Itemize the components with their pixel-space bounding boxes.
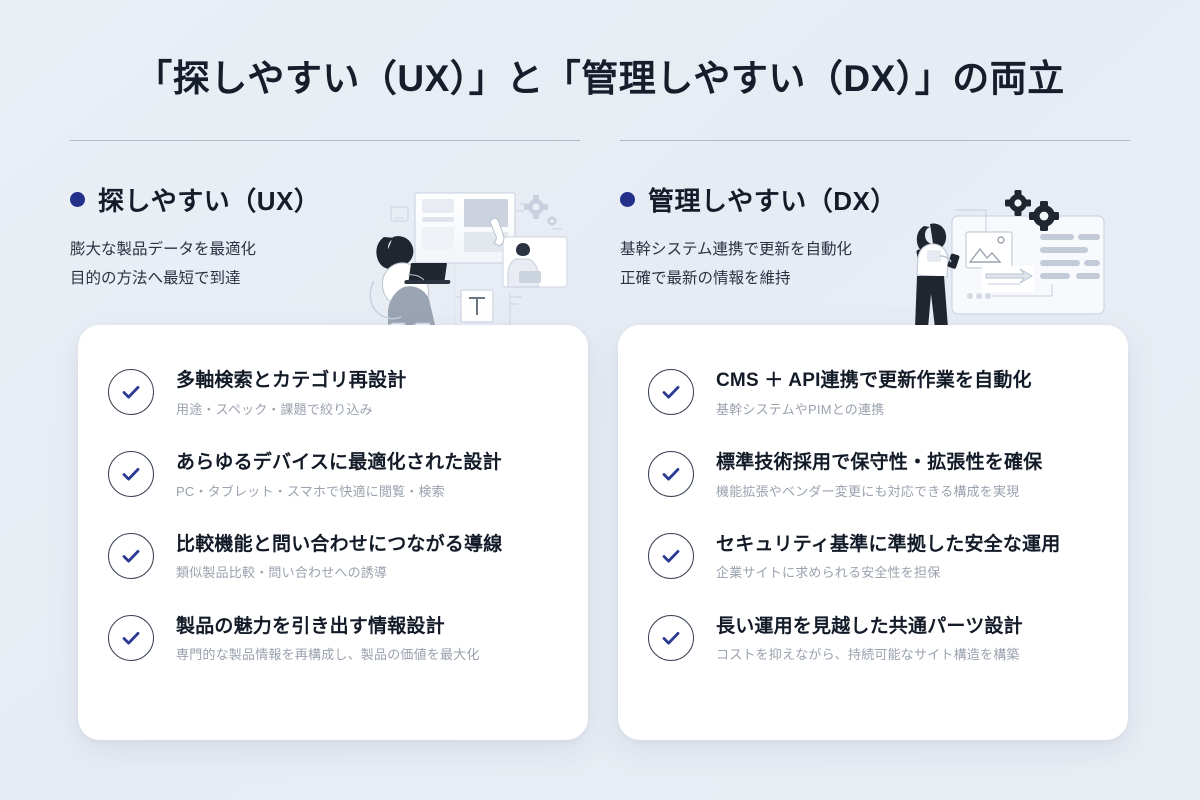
- column-subtitle-dx: 基幹システム連携で更新を自動化 正確で最新の情報を維持: [620, 236, 1130, 293]
- column-title-ux: 探しやすい（UX）: [98, 181, 320, 218]
- column-header-dx: 管理しやすい（DX）: [620, 181, 1130, 218]
- column-title-dx: 管理しやすい（DX）: [648, 181, 897, 218]
- check-circle-icon: [108, 451, 154, 497]
- feature-description: 企業サイトに求められる安全性を担保: [716, 564, 1060, 582]
- check-circle-icon: [648, 533, 694, 579]
- feature-title: CMS ＋ API連携で更新作業を自動化: [716, 370, 1032, 391]
- feature-description: コストを抑えながら、持続可能なサイト構造を構築: [716, 646, 1023, 664]
- page-title: 「探しやすい（UX）」と「管理しやすい（DX）」の両立: [0, 48, 1200, 102]
- feature-card-dx: CMS ＋ API連携で更新作業を自動化 基幹システムやPIMとの連携 標準技術…: [618, 325, 1128, 740]
- check-circle-icon: [648, 615, 694, 661]
- divider-left: [70, 140, 580, 141]
- feature-card-ux: 多軸検索とカテゴリ再設計 用途・スペック・課題で絞り込み あらゆるデバイスに最適…: [78, 325, 588, 740]
- feature-item[interactable]: 長い運用を見越した共通パーツ設計 コストを抑えながら、持続可能なサイト構造を構築: [648, 613, 1098, 665]
- divider-right: [620, 140, 1130, 141]
- feature-description: 類似製品比較・問い合わせへの誘導: [176, 564, 502, 582]
- column-header-ux: 探しやすい（UX）: [70, 181, 580, 218]
- column-dx: 管理しやすい（DX） 基幹システム連携で更新を自動化 正確で最新の情報を維持: [620, 140, 1130, 293]
- bullet-dot-icon: [70, 192, 85, 207]
- feature-item[interactable]: セキュリティ基準に準拠した安全な運用 企業サイトに求められる安全性を担保: [648, 531, 1098, 583]
- check-circle-icon: [648, 451, 694, 497]
- check-circle-icon: [648, 369, 694, 415]
- feature-title: あらゆるデバイスに最適化された設計: [176, 452, 502, 473]
- slide-root: 「探しやすい（UX）」と「管理しやすい（DX）」の両立 探しやすい（UX） 膨大…: [0, 0, 1200, 800]
- feature-title: 製品の魅力を引き出す情報設計: [176, 616, 445, 637]
- feature-item[interactable]: 多軸検索とカテゴリ再設計 用途・スペック・課題で絞り込み: [108, 367, 558, 419]
- feature-description: 基幹システムやPIMとの連携: [716, 401, 1032, 419]
- feature-description: 機能拡張やベンダー変更にも対応できる構成を実現: [716, 483, 1042, 501]
- feature-description: PC・タブレット・スマホで快適に閲覧・検索: [176, 483, 502, 501]
- feature-description: 用途・スペック・課題で絞り込み: [176, 401, 406, 419]
- feature-description: 専門的な製品情報を再構成し、製品の価値を最大化: [176, 646, 480, 664]
- check-circle-icon: [108, 615, 154, 661]
- feature-item[interactable]: CMS ＋ API連携で更新作業を自動化 基幹システムやPIMとの連携: [648, 367, 1098, 419]
- feature-title: セキュリティ基準に準拠した安全な運用: [716, 534, 1060, 555]
- column-subtitle-line: 正確で最新の情報を維持: [620, 265, 1130, 294]
- column-subtitle-line: 基幹システム連携で更新を自動化: [620, 236, 1130, 265]
- feature-title: 長い運用を見越した共通パーツ設計: [716, 616, 1023, 637]
- column-subtitle-ux: 膨大な製品データを最適化 目的の方法へ最短で到達: [70, 236, 580, 293]
- column-subtitle-line: 目的の方法へ最短で到達: [70, 265, 580, 294]
- feature-title: 標準技術採用で保守性・拡張性を確保: [716, 452, 1042, 473]
- check-circle-icon: [108, 533, 154, 579]
- column-subtitle-line: 膨大な製品データを最適化: [70, 236, 580, 265]
- feature-item[interactable]: あらゆるデバイスに最適化された設計 PC・タブレット・スマホで快適に閲覧・検索: [108, 449, 558, 501]
- column-ux: 探しやすい（UX） 膨大な製品データを最適化 目的の方法へ最短で到達: [70, 140, 580, 293]
- feature-item[interactable]: 比較機能と問い合わせにつながる導線 類似製品比較・問い合わせへの誘導: [108, 531, 558, 583]
- feature-item[interactable]: 標準技術採用で保守性・拡張性を確保 機能拡張やベンダー変更にも対応できる構成を実…: [648, 449, 1098, 501]
- check-circle-icon: [108, 369, 154, 415]
- feature-title: 多軸検索とカテゴリ再設計: [176, 370, 406, 391]
- feature-item[interactable]: 製品の魅力を引き出す情報設計 専門的な製品情報を再構成し、製品の価値を最大化: [108, 613, 558, 665]
- bullet-dot-icon: [620, 192, 635, 207]
- feature-title: 比較機能と問い合わせにつながる導線: [176, 534, 502, 555]
